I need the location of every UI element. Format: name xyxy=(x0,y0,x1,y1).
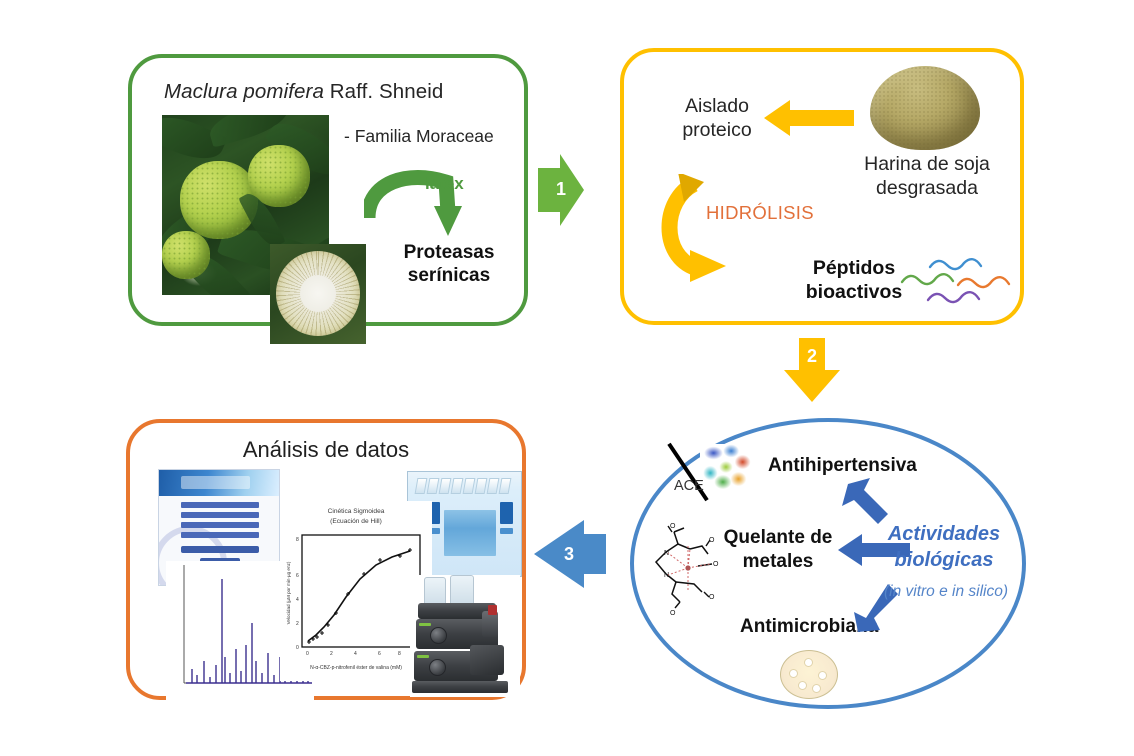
ace-annotation-label: ACE xyxy=(674,478,704,494)
svg-text:0: 0 xyxy=(306,651,309,657)
species-binomial: Maclura pomifera xyxy=(164,80,324,103)
peptide-chains-icon xyxy=(900,249,1016,311)
biological-activities-title: Actividades biológicas xyxy=(874,522,1014,573)
svg-text:O: O xyxy=(709,594,715,601)
hydrolysis-curved-arrow-icon xyxy=(654,174,778,290)
down-arrow-icon xyxy=(783,338,841,404)
serine-proteases-label: Proteasas serínicas xyxy=(374,241,524,287)
svg-text:N: N xyxy=(664,572,669,579)
svg-text:2: 2 xyxy=(296,621,299,627)
svg-text:0: 0 xyxy=(296,645,299,651)
panel-hydrolysis: Aislado proteico Harina de soja desgrasa… xyxy=(620,48,1024,325)
petri-dish-icon xyxy=(780,650,838,699)
svg-text:O: O xyxy=(670,610,676,617)
panel-data-analysis: Análisis de datos xyxy=(126,419,526,700)
svg-text:4: 4 xyxy=(296,597,299,603)
biological-activities-subtitle: (in vitro e in silico) xyxy=(878,582,1014,601)
step-arrow-1: 1 xyxy=(538,152,584,233)
hydrolysis-label: HIDRÓLISIS xyxy=(706,202,814,224)
svg-text:8: 8 xyxy=(398,651,401,657)
kinetics-ylabel: Velocidad (µM por min·µg enz) xyxy=(286,561,291,624)
panel-plant-source: Maclura pomifera Raff. Shneid - Familia … xyxy=(128,54,528,326)
svg-text:6: 6 xyxy=(378,651,381,657)
latex-label: látex xyxy=(425,174,464,194)
left-arrow-icon xyxy=(532,518,606,590)
activity-label-metal-chelating: Quelante de metales xyxy=(712,526,844,573)
protein-isolate-label: Aislado proteico xyxy=(652,94,782,143)
svg-text:4: 4 xyxy=(354,651,357,657)
svg-text:O: O xyxy=(670,523,676,530)
soy-flour-photo xyxy=(862,60,988,154)
defatted-soy-flour-label: Harina de soja desgrasada xyxy=(834,152,1020,201)
right-arrow-icon xyxy=(538,152,584,228)
data-analysis-title: Análisis de datos xyxy=(130,437,522,463)
species-authority: Raff. Shneid xyxy=(324,80,443,103)
figure-canvas: Maclura pomifera Raff. Shneid - Familia … xyxy=(0,0,1134,756)
maclura-fruit-cross-section-photo xyxy=(270,244,366,344)
panel-biological-activities: ACE Antihipertensiva N N O xyxy=(630,418,1026,709)
step-arrow-3: 3 xyxy=(532,518,606,595)
ace-protein-icon xyxy=(700,444,752,494)
svg-text:6: 6 xyxy=(296,573,299,579)
kinetics-title-line1: Cinética Sigmoidea xyxy=(328,508,385,515)
plant-family-label: - Familia Moraceae xyxy=(344,126,494,147)
kinetics-title-line2: (Ecuación de Hill) xyxy=(330,518,382,525)
hplc-instrument xyxy=(410,575,520,697)
kinetics-xlabel: N-α-CBZ-p-nitrofenil éster de valina (mM… xyxy=(310,665,402,671)
step-arrow-2: 2 xyxy=(783,338,841,409)
svg-text:8: 8 xyxy=(296,537,299,543)
species-name: Maclura pomifera Raff. Shneid xyxy=(164,80,443,104)
svg-text:2: 2 xyxy=(330,651,333,657)
